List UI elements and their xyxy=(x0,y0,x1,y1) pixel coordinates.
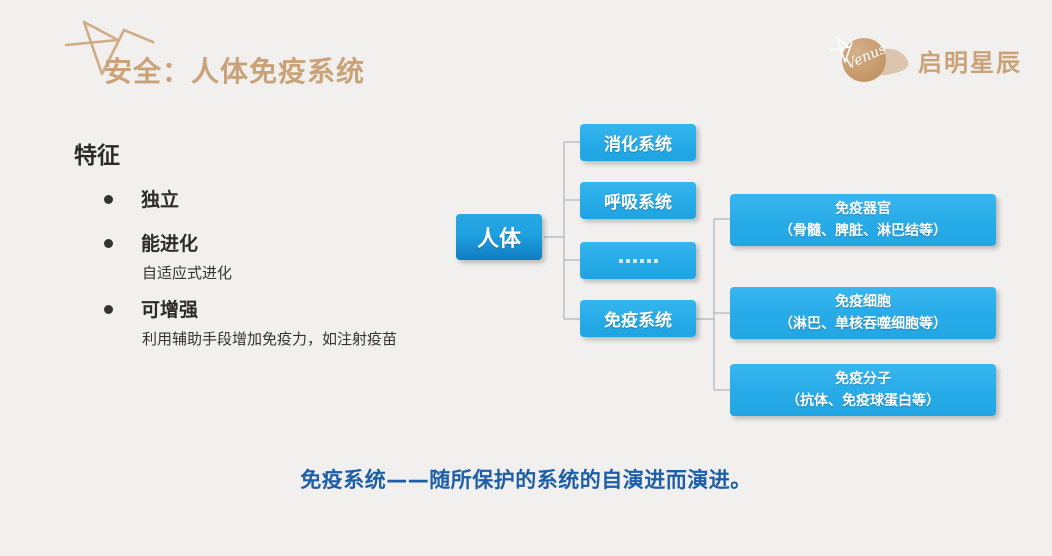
page-title: 安全：人体免疫系统 xyxy=(104,50,365,90)
node-label: 呼吸系统 xyxy=(604,188,672,213)
bullet-icon xyxy=(104,239,113,248)
node-label: 免疫系统 xyxy=(604,306,672,331)
node-label-line1: 免疫细胞 xyxy=(835,291,891,313)
slide: 安全：人体免疫系统 Venus 启明星辰 特征 独立 能进化 自适应式进化 可增… xyxy=(0,0,1052,556)
node-label-line2: （抗体、免疫球蛋白等） xyxy=(786,390,940,412)
list-item: 能进化 xyxy=(74,230,464,258)
feature-label: 能进化 xyxy=(141,230,198,258)
feature-label: 独立 xyxy=(141,186,179,214)
node-label: 消化系统 xyxy=(604,130,672,155)
diagram-node-immune-0[interactable]: 免疫器官 （骨髓、脾脏、淋巴结等） xyxy=(730,194,996,246)
diagram-node-root[interactable]: 人体 xyxy=(456,214,542,260)
diagram-node-branch-0[interactable]: 消化系统 xyxy=(580,124,696,161)
feature-sublabel: 自适应式进化 xyxy=(142,262,464,284)
feature-heading: 特征 xyxy=(74,136,464,170)
bullet-icon xyxy=(104,305,113,314)
feature-list: 特征 独立 能进化 自适应式进化 可增强 利用辅助手段增加免疫力，如注射疫苗 xyxy=(74,136,464,362)
node-label-line2: （骨髓、脾脏、淋巴结等） xyxy=(779,220,947,242)
node-label-line2: （淋巴、单核吞噬细胞等） xyxy=(779,313,947,335)
node-label: 人体 xyxy=(477,221,521,253)
diagram-node-branch-2[interactable] xyxy=(580,242,696,279)
logo-brand-text: 启明星辰 xyxy=(918,43,1022,78)
diagram-node-immune-1[interactable]: 免疫细胞 （淋巴、单核吞噬细胞等） xyxy=(730,287,996,339)
node-label-line1: 免疫分子 xyxy=(835,368,891,390)
diagram-node-branch-1[interactable]: 呼吸系统 xyxy=(580,182,696,219)
diagram-node-branch-3[interactable]: 免疫系统 xyxy=(580,300,696,337)
list-item: 独立 xyxy=(74,186,464,214)
feature-sublabel: 利用辅助手段增加免疫力，如注射疫苗 xyxy=(142,328,464,350)
node-label-line1: 免疫器官 xyxy=(835,198,891,220)
feature-label: 可增强 xyxy=(141,296,198,324)
list-item: 可增强 xyxy=(74,296,464,324)
org-diagram: 人体 消化系统 呼吸系统 免疫系统 免疫器官 （骨髓、脾脏、淋巴结等） 免疫细胞… xyxy=(452,118,1012,438)
ellipsis-icon xyxy=(619,259,658,263)
brand-logo: Venus 启明星辰 xyxy=(826,30,1022,90)
diagram-node-immune-2[interactable]: 免疫分子 （抗体、免疫球蛋白等） xyxy=(730,364,996,416)
bullet-icon xyxy=(104,195,113,204)
footer-statement: 免疫系统——随所保护的系统的自演进而演进。 xyxy=(0,464,1052,494)
spacer xyxy=(74,218,464,230)
logo-mark-icon: Venus xyxy=(826,31,910,89)
